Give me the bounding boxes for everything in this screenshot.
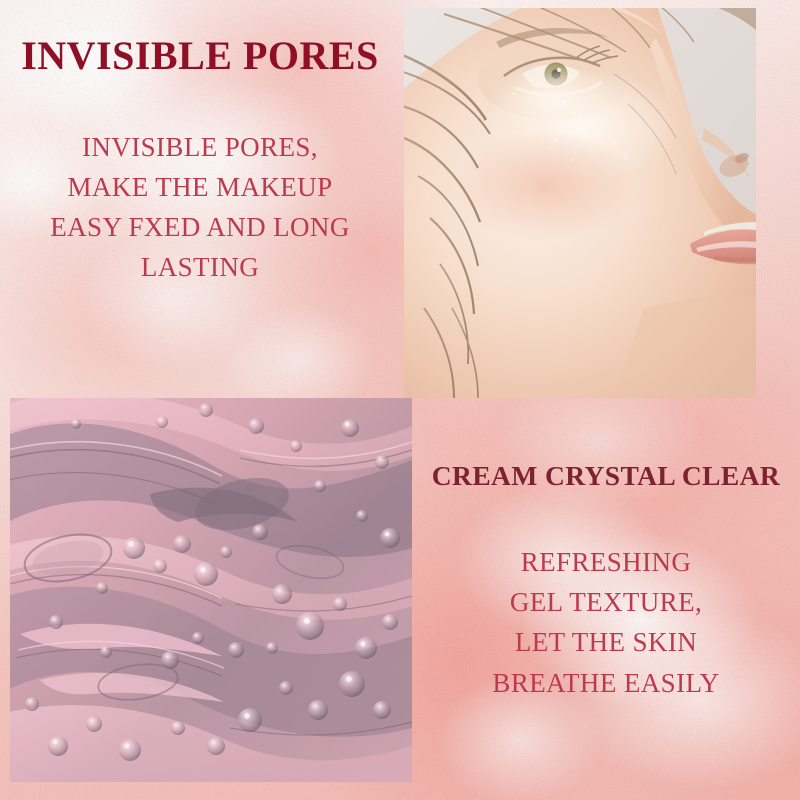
subheadline-block: CREAM CRYSTAL CLEAR <box>412 462 800 490</box>
bottom-right-body-line-1: REFRESHING <box>412 542 800 582</box>
top-left-body-block: INVISIBLE PORES, MAKE THE MAKEUP EASY FX… <box>0 128 400 288</box>
top-left-body-line-3: EASY FXED AND LONG <box>0 208 400 248</box>
headline-block: INVISIBLE PORES <box>0 36 400 76</box>
page-title: INVISIBLE PORES <box>0 36 400 76</box>
gel-texture-photo <box>10 398 412 782</box>
top-left-body-line-2: MAKE THE MAKEUP <box>0 168 400 208</box>
bottom-right-body-line-4: BREATHE EASILY <box>412 663 800 703</box>
bottom-right-body-line-3: LET THE SKIN <box>412 622 800 662</box>
face-closeup-photo <box>404 8 756 398</box>
top-left-body-line-4: LASTING <box>0 248 400 288</box>
bottom-right-body-line-2: GEL TEXTURE, <box>412 582 800 622</box>
poster-root: INVISIBLE PORES INVISIBLE PORES, MAKE TH… <box>0 0 800 800</box>
bottom-right-body-block: REFRESHING GEL TEXTURE, LET THE SKIN BRE… <box>412 542 800 703</box>
subheadline: CREAM CRYSTAL CLEAR <box>412 462 800 490</box>
top-left-body-line-1: INVISIBLE PORES, <box>0 128 400 168</box>
